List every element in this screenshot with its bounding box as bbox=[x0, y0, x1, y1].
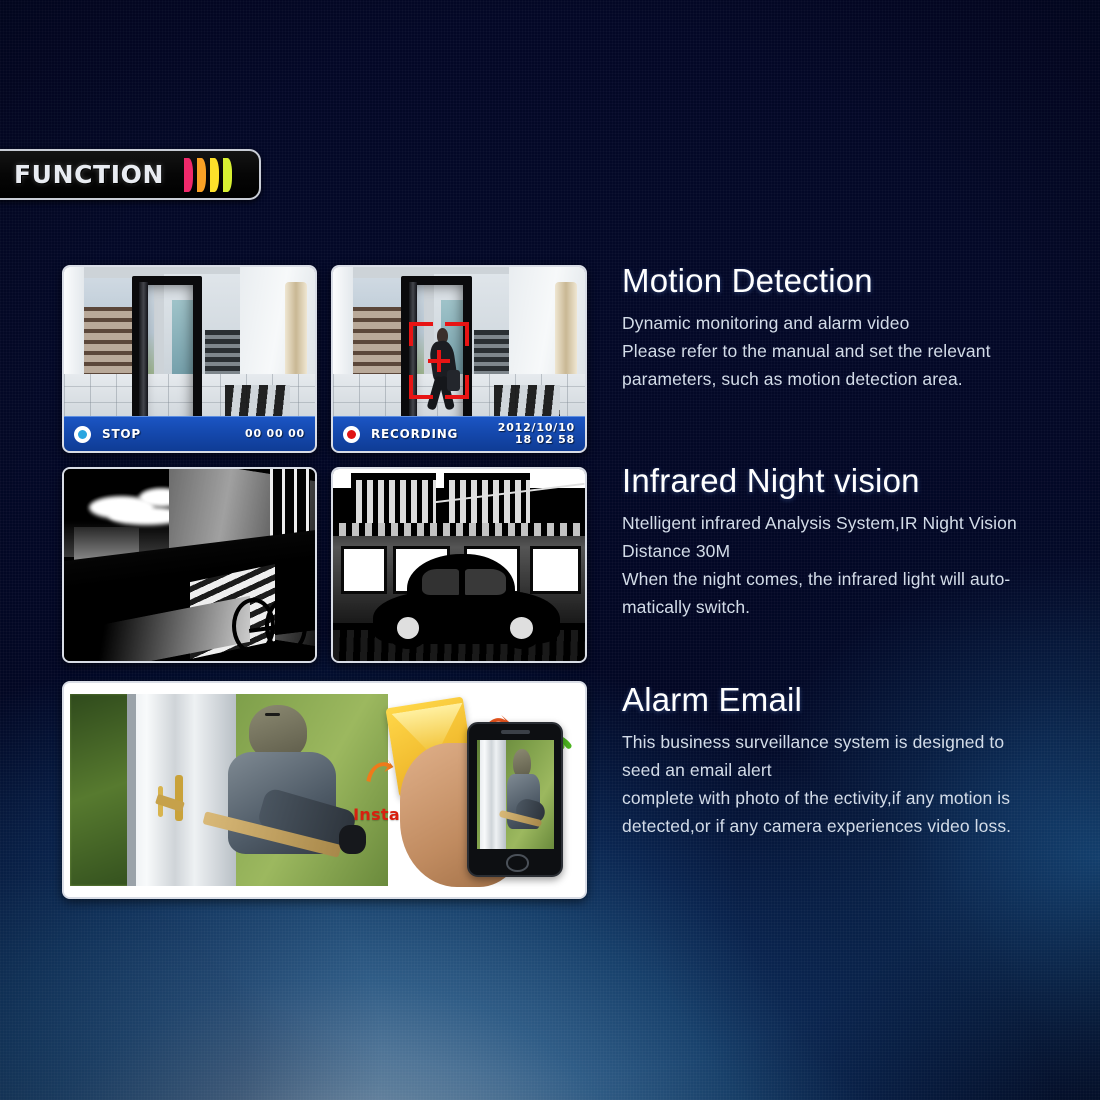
feature-title: Motion Detection bbox=[622, 262, 991, 300]
screenshot-dvr-recording: RECORDING 2012/10/10 18 02 58 bbox=[331, 265, 587, 453]
feature-line: parameters, such as motion detection are… bbox=[622, 365, 991, 393]
stop-indicator-icon bbox=[74, 426, 91, 443]
dvr-clock: 18 02 58 bbox=[515, 433, 575, 446]
feature-line: seed an email alert bbox=[622, 756, 1011, 784]
feature-text-motion-detection: Motion Detection Dynamic monitoring and … bbox=[622, 262, 991, 393]
feature-line: This business surveillance system is des… bbox=[622, 728, 1011, 756]
feature-line: Ntelligent infrared Analysis System,IR N… bbox=[622, 509, 1017, 537]
phone-screen-preview bbox=[477, 740, 554, 849]
feature-title: Infrared Night vision bbox=[622, 462, 1017, 500]
dvr-status-label: RECORDING bbox=[371, 427, 458, 441]
screenshot-night-street bbox=[62, 467, 317, 663]
feature-text-night-vision: Infrared Night vision Ntelligent infrare… bbox=[622, 462, 1017, 621]
screenshot-night-beetle bbox=[331, 467, 587, 663]
dvr-status-bar-recording: RECORDING 2012/10/10 18 02 58 bbox=[333, 416, 585, 451]
function-banner-title: FUNCTION bbox=[14, 160, 164, 189]
parked-car-silhouette bbox=[373, 559, 559, 643]
smartphone bbox=[467, 722, 563, 877]
record-indicator-icon bbox=[343, 426, 360, 443]
burglar-email-phone-scene: Instant Email bbox=[64, 683, 585, 897]
screenshot-dvr-stop: STOP 00 00 00 bbox=[62, 265, 317, 453]
bicycle-silhouette bbox=[232, 590, 307, 655]
screenshot-alarm-email: Instant Email bbox=[62, 681, 587, 899]
dvr-status-label: STOP bbox=[102, 427, 141, 441]
feature-title: Alarm Email bbox=[622, 681, 1011, 719]
night-parked-car-scene bbox=[333, 469, 585, 661]
dvr-status-bar-stop: STOP 00 00 00 bbox=[64, 416, 315, 451]
banner-bars-icon bbox=[184, 157, 232, 193]
burglar-photo bbox=[70, 694, 388, 887]
hand-holding-phone bbox=[400, 711, 577, 891]
feature-line: When the night comes, the infrared light… bbox=[622, 565, 1017, 593]
feature-line: complete with photo of the ectivity,if a… bbox=[622, 784, 1011, 812]
feature-text-alarm-email: Alarm Email This business surveillance s… bbox=[622, 681, 1011, 840]
feature-line: detected,or if any camera experiences vi… bbox=[622, 812, 1011, 840]
feature-line: Please refer to the manual and set the r… bbox=[622, 337, 991, 365]
dvr-timer: 00 00 00 bbox=[245, 428, 305, 440]
motion-detection-box-icon bbox=[409, 322, 469, 399]
product-feature-page: FUNCTION bbox=[0, 0, 1100, 1100]
feature-line: matically switch. bbox=[622, 593, 1017, 621]
dvr-timestamp: 2012/10/10 18 02 58 bbox=[498, 422, 575, 445]
feature-line: Distance 30M bbox=[622, 537, 1017, 565]
feature-line: Dynamic monitoring and alarm video bbox=[622, 309, 991, 337]
night-street-bicycle-scene bbox=[64, 469, 315, 661]
function-banner: FUNCTION bbox=[0, 149, 261, 200]
burglar-figure bbox=[216, 705, 362, 886]
